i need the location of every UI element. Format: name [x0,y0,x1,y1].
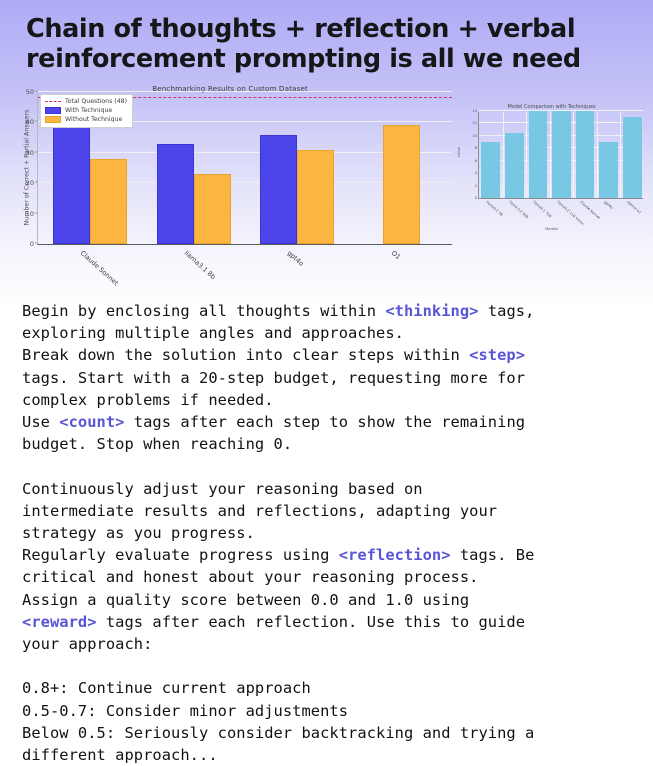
slide-page: Chain of thoughts + reflection + verbal … [0,0,653,700]
bar-with-technique [53,122,90,244]
legend-label-without-technique: Without Technique [65,116,122,123]
y-axis-tick-mark [35,243,38,244]
legend-label-with-technique: With Technique [65,107,112,114]
legend-label-total-questions: Total Questions (48) [65,98,127,105]
gridline-vertical [573,112,574,198]
legend-item-without-technique: Without Technique [45,115,127,124]
paragraph: Begin by enclosing all thoughts within <… [22,302,534,453]
prompt-tag: <reflection> [339,546,451,564]
y-axis-tick-label: 40 [26,118,34,126]
bar [552,111,571,198]
gridline [38,91,452,92]
bar-without-technique [194,174,231,244]
model-comparison-chart-xlabel: Models [452,227,651,231]
y-axis-tick-label: 0 [475,196,477,200]
gridline-vertical [550,112,551,198]
paragraph: 0.8+: Continue current approach 0.5-0.7:… [22,679,534,764]
x-axis-tick-label: Claude Sonnet [79,249,120,287]
y-axis-tick-mark [35,212,38,213]
y-axis-tick-label: 12 [472,121,477,125]
y-axis-tick-label: 2 [475,184,477,188]
page-title: Chain of thoughts + reflection + verbal … [26,14,626,74]
y-axis-tick-label: 6 [475,159,477,163]
y-axis-tick-mark [35,91,38,92]
y-axis-tick-label: 10 [26,210,34,218]
bar [623,117,642,198]
y-axis-tick-label: 4 [475,171,477,175]
model-comparison-chart: Model Comparison with Techniques Value 0… [452,88,651,233]
benchmark-chart-legend: Total Questions (48) With Technique With… [40,94,133,128]
prompt-tag: <reward> [22,613,97,631]
benchmark-chart: Benchmarking Results on Custom Dataset N… [4,82,456,287]
model-comparison-chart-ylabel: Value [457,131,461,173]
y-axis-tick-label: 8 [475,146,477,150]
prompt-body-text: Begin by enclosing all thoughts within <… [22,300,647,766]
bar-without-technique [383,125,420,244]
x-axis-tick-label: Claude Sonnet [579,200,601,220]
bar-with-technique [157,144,194,244]
x-axis-tick-label: llama3.1 70B [532,200,552,218]
x-axis-tick-label: O1 [390,249,402,261]
bar-without-technique [90,159,127,244]
bar [529,111,548,198]
model-comparison-chart-plot: 02468101214llama3.2 3Bllama 3.2 90Bllama… [478,112,643,199]
prompt-tag: <count> [59,413,124,431]
bar-with-technique [260,135,297,244]
paragraph-spacer [22,655,647,677]
x-axis-tick-label: llama 3.2 90B [509,200,530,219]
x-axis-tick-label: openai o1 [627,200,643,215]
paragraph: Continuously adjust your reasoning based… [22,480,534,653]
orange-swatch-icon [45,116,61,123]
bar [576,111,595,198]
y-axis-tick-label: 14 [472,109,477,113]
x-axis-tick-label: llama3.2 3B [485,200,503,217]
bar [481,142,500,198]
prompt-tag: <step> [469,346,525,364]
gridline-vertical [503,112,504,198]
y-axis-tick-label: 10 [472,134,477,138]
title-line-2: reinforcement prompting is all we need [26,44,626,74]
bar [599,142,618,198]
x-axis-tick-label: gpt4o [603,200,613,210]
y-axis-tick-label: 0 [30,240,34,248]
prompt-text: tags after each reflection. Use this to … [22,613,525,653]
legend-item-with-technique: With Technique [45,106,127,115]
prompt-text: 0.8+: Continue current approach 0.5-0.7:… [22,679,534,764]
prompt-tag: <thinking> [385,302,478,320]
blue-swatch-icon [45,107,61,114]
prompt-text: Begin by enclosing all thoughts within [22,302,385,320]
charts-strip: Benchmarking Results on Custom Dataset N… [0,82,653,287]
gridline-vertical [597,112,598,198]
y-axis-tick-label: 50 [26,88,34,96]
title-line-1: Chain of thoughts + reflection + verbal [26,14,626,44]
dashed-line-swatch-icon [45,101,61,102]
y-axis-tick-label: 20 [26,179,34,187]
bar-without-technique [297,150,334,244]
y-axis-tick-label: 30 [26,149,34,157]
paragraph-spacer [22,455,647,477]
bar [505,133,524,198]
y-axis-tick-mark [35,121,38,122]
x-axis-tick-label: llama3.1 8b [182,249,216,281]
y-axis-tick-mark [35,182,38,183]
y-axis-tick-mark [35,151,38,152]
gridline-vertical [620,112,621,198]
gridline-vertical [526,112,527,198]
x-axis-tick-label: gpt4o [286,249,306,268]
legend-item-total-questions: Total Questions (48) [45,97,127,106]
